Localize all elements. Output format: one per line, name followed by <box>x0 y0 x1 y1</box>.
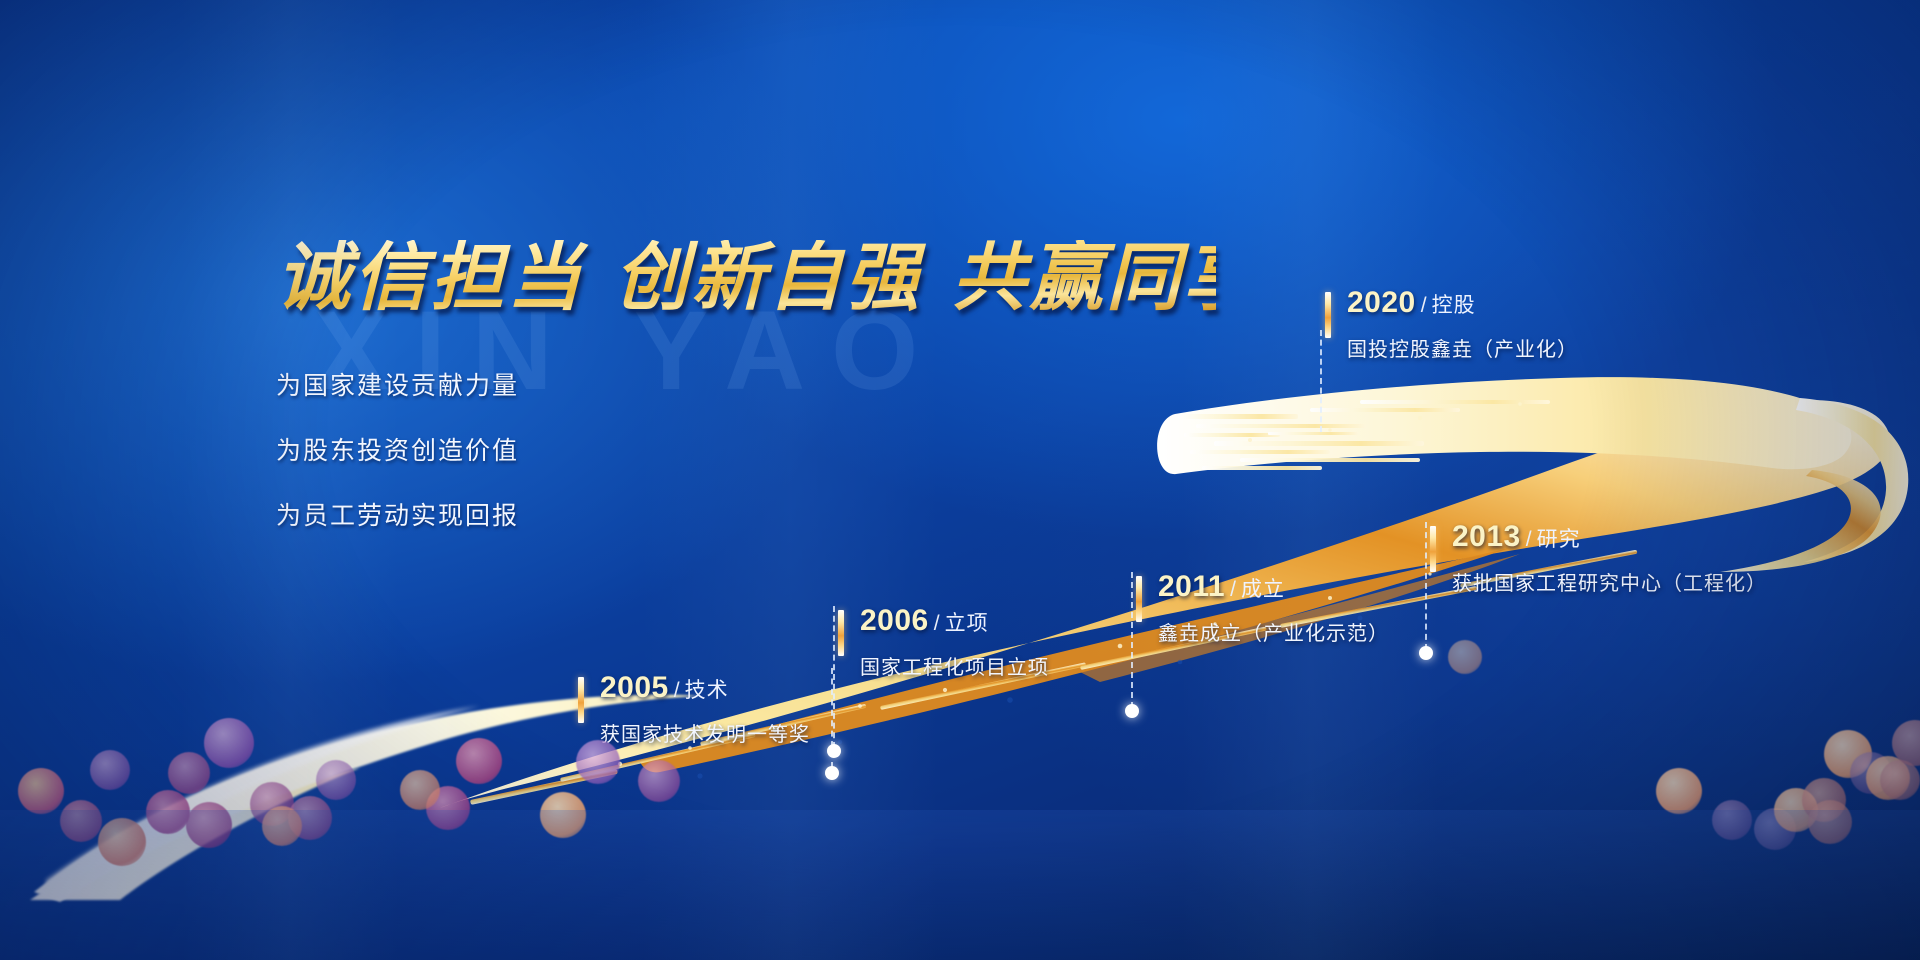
milestone-heading: 2013/研究 <box>1452 522 1767 552</box>
milestone-tag: 成立 <box>1241 578 1285 601</box>
milestone-leader-line-2020 <box>1320 330 1322 432</box>
milestone-text: 2020/控股 国投控股鑫垚（产业化） <box>1325 288 1578 362</box>
milestone-year: 2013 <box>1452 520 1521 553</box>
milestone-2013[interactable]: 2013/研究 获批国家工程研究中心（工程化） <box>1430 522 1767 596</box>
milestone-description: 获国家技术发明一等奖 <box>600 718 810 747</box>
milestone-year: 2020 <box>1347 286 1416 319</box>
milestone-leader-line-2011 <box>1131 572 1133 708</box>
banner-canvas: XIN YAO 诚信担当创新自强共赢同享 为国家建设贡献力量 为股东投资创造价值… <box>0 0 1920 960</box>
milestone-accent-bar <box>578 677 584 723</box>
milestone-dot-2013 <box>1419 646 1433 660</box>
milestone-description: 国投控股鑫垚（产业化） <box>1347 333 1578 362</box>
milestone-text: 2005/技术 获国家技术发明一等奖 <box>578 673 810 747</box>
page-title: 诚信担当创新自强共赢同享 <box>276 240 1216 320</box>
milestone-leader-line-2013 <box>1425 522 1427 650</box>
milestone-tag: 控股 <box>1432 294 1476 317</box>
headline-block: XIN YAO 诚信担当创新自强共赢同享 为国家建设贡献力量 为股东投资创造价值… <box>276 240 1216 561</box>
milestone-separator: / <box>1230 578 1236 601</box>
milestone-heading: 2006/立项 <box>860 606 1049 636</box>
milestone-separator: / <box>674 679 680 702</box>
milestone-heading: 2020/控股 <box>1347 288 1578 318</box>
slogan-item: 为员工劳动实现回报 <box>276 496 1216 532</box>
milestone-text: 2006/立项 国家工程化项目立项 <box>838 606 1049 680</box>
milestone-text: 2013/研究 获批国家工程研究中心（工程化） <box>1430 522 1767 596</box>
milestone-text: 2011/成立 鑫垚成立（产业化示范） <box>1136 572 1389 646</box>
headline-part-1: 诚信担当 <box>276 238 584 320</box>
milestone-tag: 研究 <box>1537 528 1581 551</box>
milestone-heading: 2011/成立 <box>1158 572 1389 602</box>
milestone-2006[interactable]: 2006/立项 国家工程化项目立项 <box>838 606 1049 680</box>
milestone-description: 国家工程化项目立项 <box>860 651 1049 680</box>
milestone-2005[interactable]: 2005/技术 获国家技术发明一等奖 <box>578 673 810 747</box>
milestone-year: 2006 <box>860 604 929 637</box>
milestone-description: 获批国家工程研究中心（工程化） <box>1452 567 1767 596</box>
milestone-dot-2011 <box>1125 704 1139 718</box>
headline-part-2: 创新自强 <box>614 238 922 320</box>
milestone-tag: 技术 <box>685 679 729 702</box>
milestone-description: 鑫垚成立（产业化示范） <box>1158 617 1389 646</box>
milestone-2011[interactable]: 2011/成立 鑫垚成立（产业化示范） <box>1136 572 1389 646</box>
light-beam <box>1180 0 1440 960</box>
milestone-dot-2005 <box>825 766 839 780</box>
milestone-accent-bar <box>1136 576 1142 622</box>
milestone-year: 2005 <box>600 671 669 704</box>
slogan-item: 为股东投资创造价值 <box>276 431 1216 467</box>
milestone-separator: / <box>1526 528 1532 551</box>
milestone-2020[interactable]: 2020/控股 国投控股鑫垚（产业化） <box>1325 288 1578 362</box>
milestone-separator: / <box>1421 294 1427 317</box>
milestone-accent-bar <box>1325 292 1331 338</box>
milestone-year: 2011 <box>1158 570 1225 603</box>
milestone-leader-line-2006 <box>833 606 835 748</box>
milestone-dot-2006 <box>827 744 841 758</box>
milestone-accent-bar <box>838 610 844 656</box>
milestone-accent-bar <box>1430 526 1436 572</box>
milestone-tag: 立项 <box>945 612 989 635</box>
milestone-heading: 2005/技术 <box>600 673 810 703</box>
milestone-separator: / <box>934 612 940 635</box>
headline-part-3: 共赢同享 <box>952 238 1260 320</box>
